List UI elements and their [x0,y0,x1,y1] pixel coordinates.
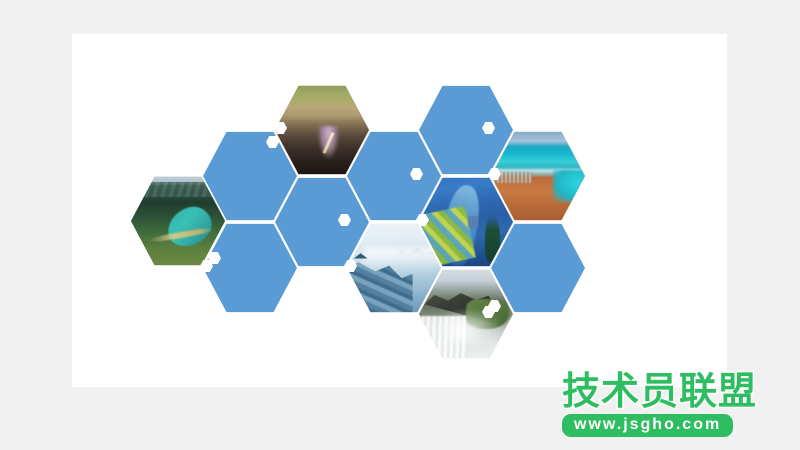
coastal-town-layer [493,172,532,183]
mist-layer [364,248,441,272]
spray-layer [442,308,504,345]
lagoon-layer [553,170,585,201]
tree-layer [485,215,500,263]
watermark-brand-text: 技术员联盟 [562,372,777,410]
watermark-url-text: www.jsgho.com [562,414,733,437]
lake-layer [162,202,216,251]
slide-canvas [72,34,727,387]
hut-layer [468,216,478,228]
watermark: 技术员联盟 www.jsgho.com [562,372,777,442]
hexagon-smartart-diagram[interactable] [72,34,727,387]
cloud-band-layer [275,112,369,125]
